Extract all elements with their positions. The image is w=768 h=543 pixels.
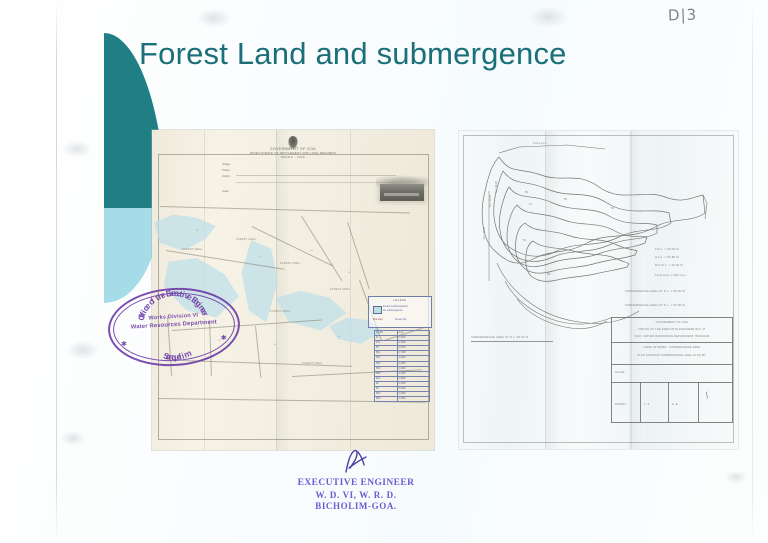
inset-index-box	[380, 184, 424, 201]
table-row: 68/30.1500	[375, 397, 430, 402]
map-note: F.R.L. = 59.00 M	[655, 247, 679, 251]
parcel-label: FOREST AREA	[270, 310, 290, 313]
title-block-divider	[612, 342, 732, 343]
map-header-line3: PANAJI - GOA	[193, 155, 393, 159]
survey-table-body: Sy. No.Area410.940047/16.1200500.075051/…	[375, 331, 430, 402]
map-meta-taluka: Taluka :	[222, 169, 231, 172]
map-note: Total area = 000 sq.m.	[655, 273, 687, 277]
legend-title: LEGEND	[393, 299, 406, 302]
contour-label: 53	[611, 207, 614, 210]
title-block-field-scale: SCALE :	[615, 371, 626, 374]
parcel-label: FOREST AREA	[236, 238, 256, 241]
office-round-stamp: Office of the Executive Engineer Sanquel…	[106, 284, 243, 370]
contour-label: 50	[523, 239, 526, 242]
title-block-line3: (W.R.) WATER RESOURCES DEPARTMENT, BICHO…	[635, 335, 710, 338]
page-title: Forest Land and submergence	[139, 36, 567, 72]
axis-note-underline	[471, 341, 553, 342]
scanned-slide-page: D|3 Forest Land and submergence GOVERNME…	[0, 0, 768, 543]
handwritten-page-mark: D|3	[668, 5, 698, 24]
header-number-row	[236, 175, 396, 176]
map-meta-district: District :	[222, 175, 231, 178]
contour-label: 48	[547, 273, 550, 276]
map-note: SUBMERGENCE AREA AT R.L. = 59.00 M	[625, 289, 685, 293]
survey-table-cell: 68/3	[375, 397, 398, 402]
contour-label: 59	[525, 191, 528, 194]
map-header: GOVERNMENT OF GOA DIRECTORATE OF SETTLEM…	[193, 132, 393, 159]
survey-table-cell: 0.1500	[397, 397, 429, 402]
scan-smudge	[60, 430, 86, 446]
title-block-column-divider	[698, 382, 699, 422]
parcel-label: FOREST AREA	[330, 288, 350, 291]
paper-right-edge	[752, 0, 753, 543]
axis-note: SUBMERGENCE AREA AT R.L. 59.00 M	[471, 335, 528, 339]
stamp-star-left-icon: ✱	[121, 340, 127, 348]
map-legend: LEGEND Forest Land Acquired for submerge…	[368, 296, 432, 328]
designation-line2: W. D. VI, W. R. D.	[258, 490, 454, 502]
handwritten-signature	[338, 448, 378, 474]
state-emblem-icon	[288, 136, 298, 149]
legend-note-boundary: Boundary	[373, 318, 383, 321]
designation-line1: EXECUTIVE ENGINEER	[258, 478, 454, 490]
parcel-label: FOREST AREA	[182, 248, 202, 251]
survey-number: 50	[310, 250, 312, 252]
title-block-divider	[612, 364, 732, 365]
survey-number: 61	[274, 344, 276, 346]
scan-smudge	[196, 8, 232, 28]
survey-number: 41	[196, 230, 198, 232]
parcel-label: FOREST AREA	[280, 262, 300, 265]
designation-line3: BICHOLIM-GOA.	[258, 501, 454, 513]
scan-smudge	[66, 340, 100, 360]
title-block-line2: OFFICE OF THE EXECUTIVE ENGINEER W.D. VI	[639, 328, 706, 331]
legend-note-survey: Survey No.	[395, 318, 407, 321]
contour-label: 57	[529, 203, 532, 206]
title-block-column-divider	[668, 382, 669, 422]
drawing-title-block: GOVERNMENT OF GOA OFFICE OF THE EXECUTIV…	[611, 317, 733, 423]
title-block-line5: PLAN SHOWING SUBMERGENCE AREA IN SQ.MT.	[637, 354, 706, 357]
stamp-star-right-icon: ✱	[221, 334, 227, 342]
survey-number: 54	[348, 272, 350, 274]
title-block-signature-mark: ∫	[705, 392, 708, 399]
submergence-contour-map-image: FULL R.L. R.L. 59.00 R.L. 55.00 R.L. 50.…	[459, 131, 738, 449]
attestation-designation: EXECUTIVE ENGINEER W. D. VI, W. R. D. BI…	[258, 478, 454, 513]
scan-smudge	[724, 470, 748, 484]
map-meta-village: Village :	[222, 163, 231, 166]
legend-text-line2: for submergence	[383, 309, 408, 313]
title-block-line4: NAME OF WORK : SUBMERGENCE AREA	[644, 346, 701, 349]
title-block-divider	[612, 382, 732, 383]
map-note: M.D.D.L. = 48.00 M	[655, 263, 683, 267]
paper-left-edge	[56, 0, 57, 543]
parcel-label: FOREST AREA	[302, 362, 322, 365]
legend-swatch	[373, 306, 382, 314]
scan-smudge	[62, 140, 92, 158]
contour-label: 55	[564, 198, 567, 201]
survey-number: 47	[260, 256, 262, 258]
title-block-field-ae: A. E.	[672, 403, 679, 406]
legend-text: Forest Land Acquired for submergence	[383, 305, 408, 312]
survey-number-table: Sy. No.Area410.940047/16.1200500.075051/…	[374, 330, 430, 402]
header-number-row	[236, 182, 396, 183]
title-block-line1: GOVERNMENT OF GOA	[656, 321, 689, 324]
title-block-field-drawn: DRAWN	[615, 403, 626, 406]
survey-number: 65	[338, 336, 340, 338]
map-meta-scale: Scale :	[222, 190, 230, 193]
map-note: H.F.L. = 56.80 M	[655, 255, 679, 259]
scan-smudge	[528, 6, 568, 28]
map-note: SUBMERGENCE AREA AT R.L. = 56.80 M	[625, 303, 685, 307]
title-block-column-divider	[640, 382, 641, 422]
title-block-field-ts: T. S.	[644, 403, 650, 406]
